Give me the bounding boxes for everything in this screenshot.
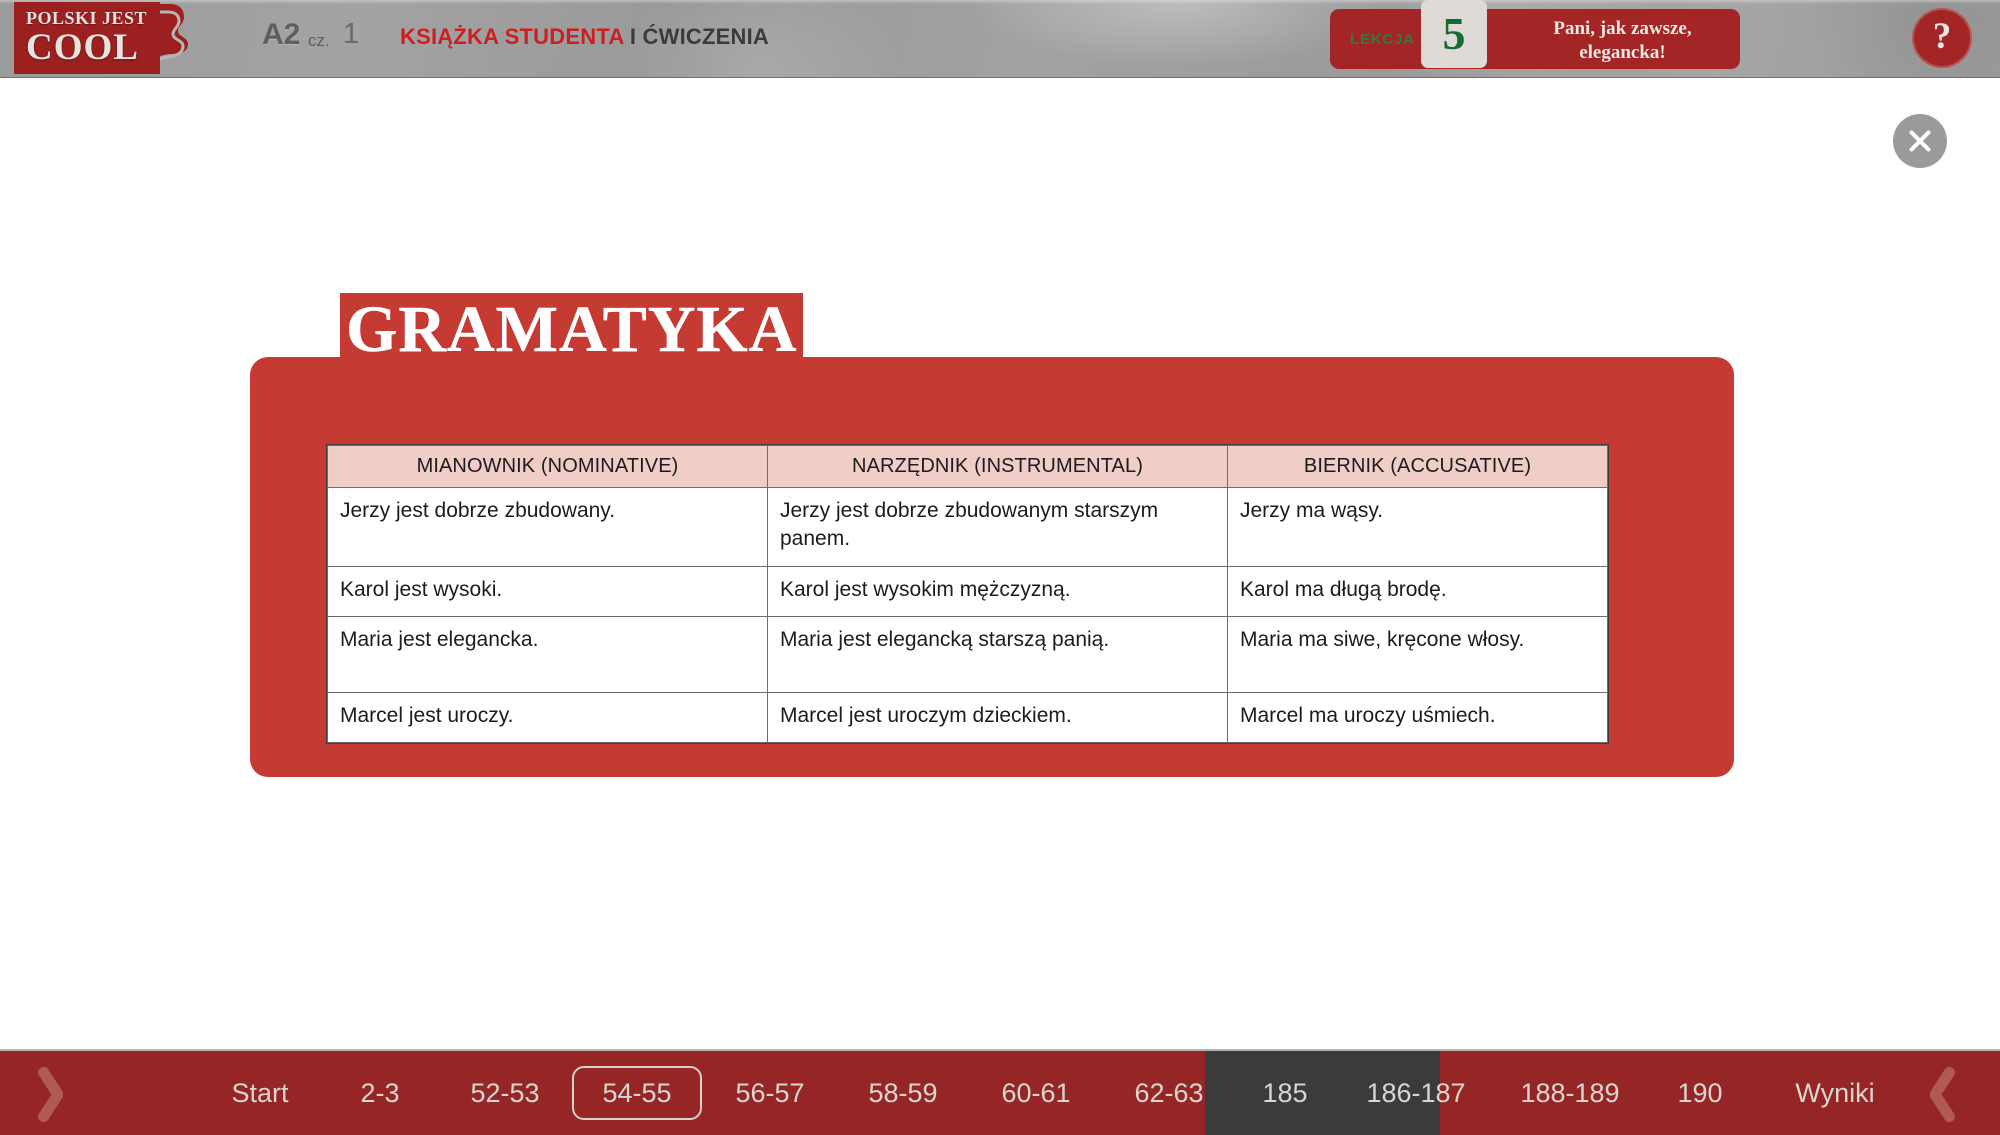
- logo-line-2: COOL: [26, 29, 139, 68]
- cell-nominative: Karol jest wysoki.: [328, 566, 768, 616]
- top-header-bar: POLSKI JEST COOL A2 cz. 1 KSIĄŻKA STUDEN…: [0, 0, 2000, 78]
- cell-accusative: Karol ma długą brodę.: [1228, 566, 1608, 616]
- page-navigation-bar: Start2-352-5354-5556-5758-5960-6162-6318…: [0, 1049, 2000, 1135]
- table-row: Karol jest wysoki. Karol jest wysokim mę…: [328, 566, 1608, 616]
- cell-instrumental: Marcel jest uroczym dzieckiem.: [768, 693, 1228, 743]
- cell-accusative: Jerzy ma wąsy.: [1228, 488, 1608, 567]
- table-head: MIANOWNIK (NOMINATIVE) NARZĘDNIK (INSTRU…: [328, 446, 1608, 488]
- panel-title: GRAMATYKA: [340, 293, 803, 367]
- lesson-number: 5: [1443, 11, 1466, 57]
- book-title-primary: KSIĄŻKA STUDENTA: [400, 24, 624, 49]
- nav-page-link[interactable]: 62-63: [1104, 1051, 1234, 1135]
- nav-page-link[interactable]: Start: [200, 1051, 320, 1135]
- nav-page-link[interactable]: 54-55: [572, 1066, 702, 1120]
- nav-page-link[interactable]: 56-57: [705, 1051, 835, 1135]
- grammar-panel: GRAMATYKA MIANOWNIK (NOMINATIVE) NARZĘDN…: [250, 357, 1734, 777]
- lesson-label: LEKCJA: [1350, 31, 1415, 48]
- nav-page-link[interactable]: 185: [1235, 1051, 1335, 1135]
- column-header-nominative: MIANOWNIK (NOMINATIVE): [328, 446, 768, 488]
- nav-page-link[interactable]: 190: [1650, 1051, 1750, 1135]
- cell-instrumental: Karol jest wysokim mężczyzną.: [768, 566, 1228, 616]
- logo-line-1: POLSKI JEST: [26, 9, 147, 27]
- cell-instrumental: Maria jest elegancką starszą panią.: [768, 617, 1228, 693]
- application-window: POLSKI JEST COOL A2 cz. 1 KSIĄŻKA STUDEN…: [0, 0, 2000, 1135]
- cell-nominative: Maria jest elegancka.: [328, 617, 768, 693]
- lesson-number-box: 5: [1421, 0, 1487, 68]
- cell-nominative: Marcel jest uroczy.: [328, 693, 768, 743]
- nav-page-link[interactable]: 2-3: [330, 1051, 430, 1135]
- nav-page-link[interactable]: 186-187: [1336, 1051, 1496, 1135]
- nav-page-link[interactable]: 58-59: [838, 1051, 968, 1135]
- table-body: Jerzy jest dobrze zbudowany. Jerzy jest …: [328, 488, 1608, 743]
- help-button[interactable]: ?: [1912, 8, 1972, 68]
- book-title-secondary: I ĆWICZENIA: [624, 24, 769, 49]
- cell-nominative: Jerzy jest dobrze zbudowany.: [328, 488, 768, 567]
- lesson-title: Pani, jak zawsze, elegancka!: [1510, 17, 1735, 65]
- cell-accusative: Marcel ma uroczy uśmiech.: [1228, 693, 1608, 743]
- part-number: 1: [343, 20, 359, 49]
- column-header-instrumental: NARZĘDNIK (INSTRUMENTAL): [768, 446, 1228, 488]
- cell-accusative: Maria ma siwe, kręcone włosy.: [1228, 617, 1608, 693]
- course-level: A2: [262, 20, 300, 50]
- grammar-table: MIANOWNIK (NOMINATIVE) NARZĘDNIK (INSTRU…: [327, 445, 1608, 743]
- table-header-row: MIANOWNIK (NOMINATIVE) NARZĘDNIK (INSTRU…: [328, 446, 1608, 488]
- nav-page-link[interactable]: 52-53: [440, 1051, 570, 1135]
- page-links: Start2-352-5354-5556-5758-5960-6162-6318…: [0, 1051, 2000, 1135]
- nav-page-link[interactable]: 60-61: [971, 1051, 1101, 1135]
- nav-page-link[interactable]: Wyniki: [1760, 1051, 1910, 1135]
- table-row: Marcel jest uroczy. Marcel jest uroczym …: [328, 693, 1608, 743]
- nav-page-link[interactable]: 188-189: [1490, 1051, 1650, 1135]
- cell-instrumental: Jerzy jest dobrze zbudowanym starszym pa…: [768, 488, 1228, 567]
- table-row: Jerzy jest dobrze zbudowany. Jerzy jest …: [328, 488, 1608, 567]
- column-header-accusative: BIERNIK (ACCUSATIVE): [1228, 446, 1608, 488]
- table-row: Maria jest elegancka. Maria jest eleganc…: [328, 617, 1608, 693]
- part-label: cz.: [308, 31, 330, 51]
- brand-logo[interactable]: POLSKI JEST COOL: [14, 2, 160, 74]
- lesson-badge[interactable]: LEKCJA 5 Pani, jak zawsze, elegancka!: [1330, 9, 1740, 69]
- book-title: KSIĄŻKA STUDENTA I ĆWICZENIA: [400, 26, 769, 48]
- question-mark-icon: ?: [1933, 18, 1952, 55]
- close-icon[interactable]: [1893, 114, 1947, 168]
